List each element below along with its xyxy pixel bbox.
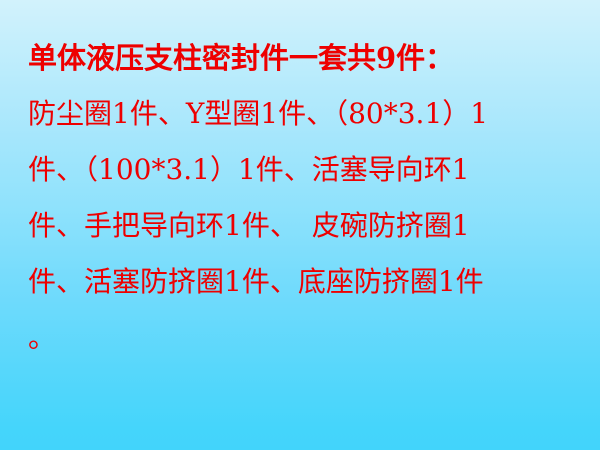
slide-body-line-1: 防尘圈1件、Y型圈1件、（80*3.1）1 (28, 86, 576, 142)
slide-body-line-3: 件、手把导向环1件、 皮碗防挤圈1 (28, 198, 576, 254)
slide-body-line-2: 件、（100*3.1）1件、活塞导向环1 (28, 142, 576, 198)
slide-body-line-5: 。 (28, 310, 576, 366)
slide-body-line-4: 件、活塞防挤圈1件、底座防挤圈1件 (28, 254, 576, 310)
slide-title: 单体液压支柱密封件一套共9件： (28, 30, 576, 86)
slide-canvas: 单体液压支柱密封件一套共9件： 防尘圈1件、Y型圈1件、（80*3.1）1 件、… (0, 0, 600, 450)
slide-text-block: 单体液压支柱密封件一套共9件： 防尘圈1件、Y型圈1件、（80*3.1）1 件、… (28, 30, 576, 366)
